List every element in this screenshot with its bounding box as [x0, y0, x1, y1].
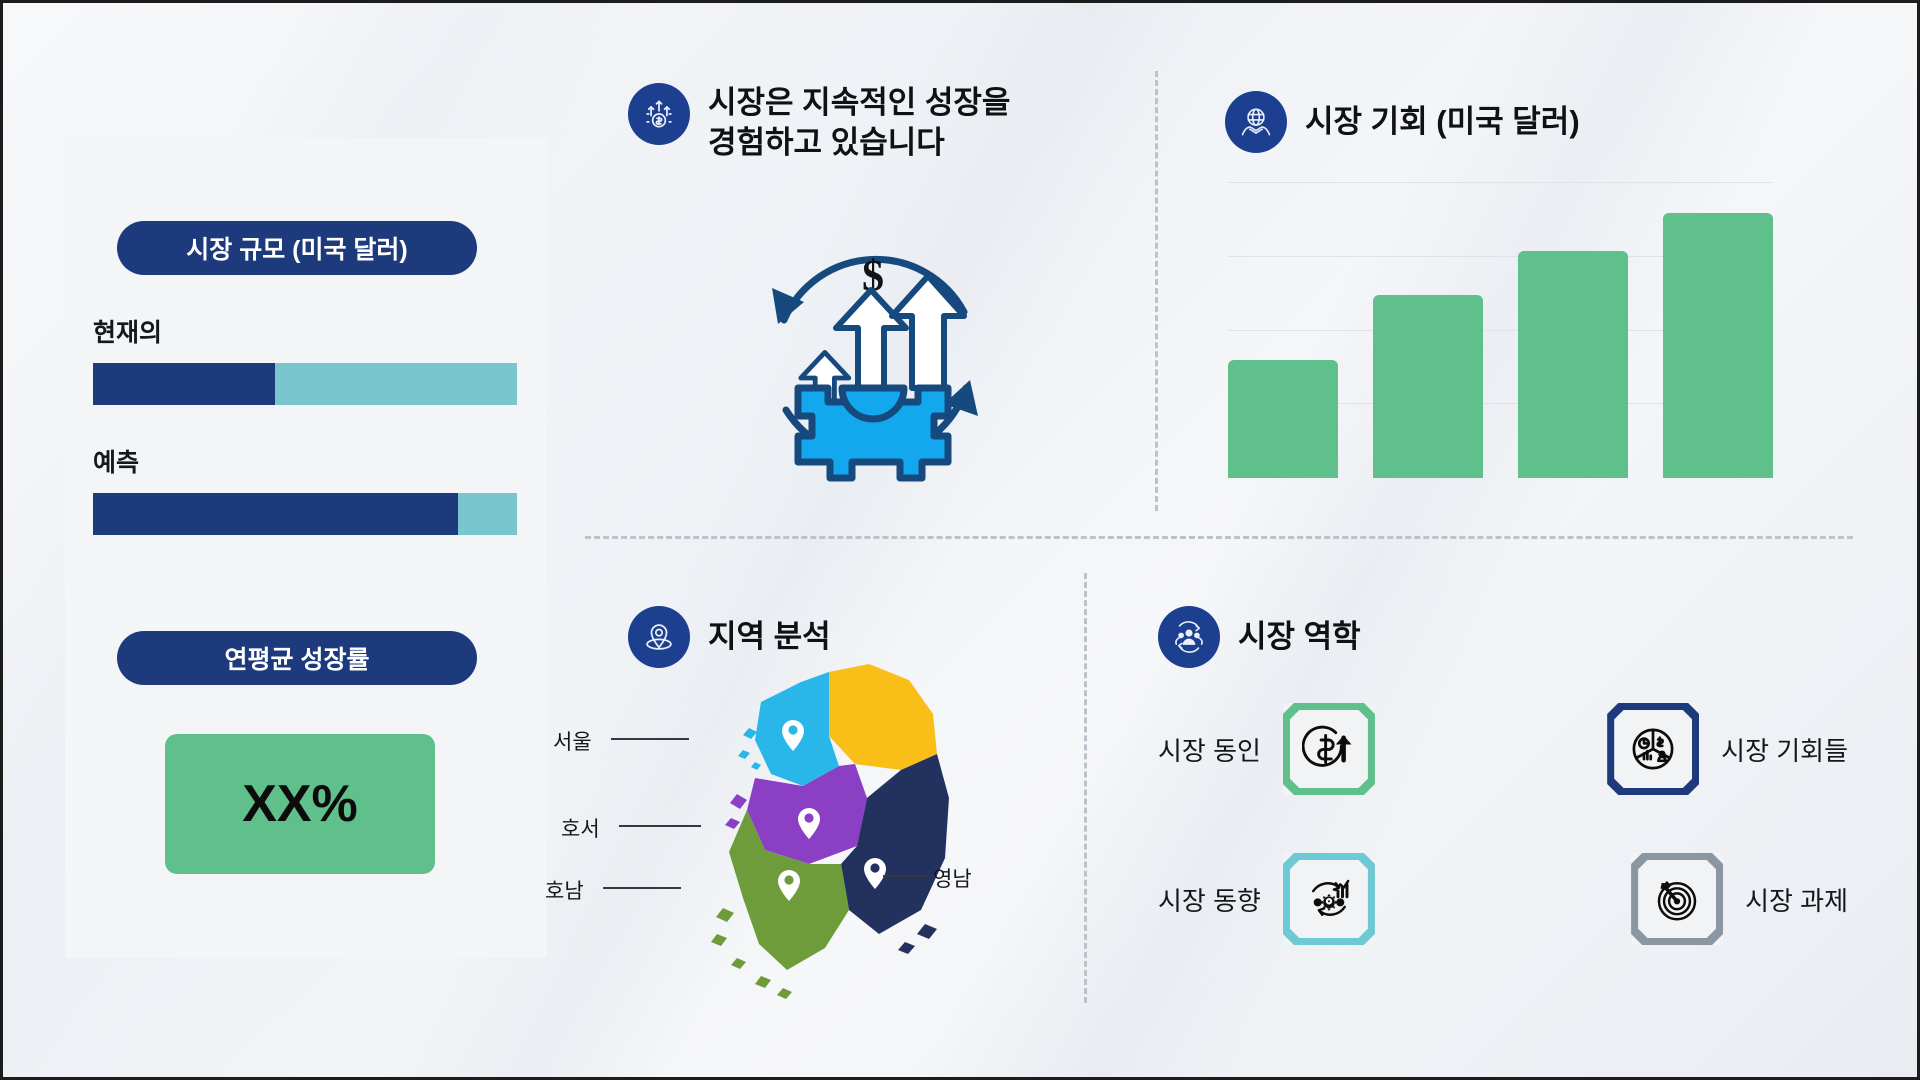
dollar-up-arrow-icon: [1283, 703, 1375, 795]
gears-trend-icon: [1283, 853, 1375, 945]
forecast-bar-track: [93, 493, 517, 535]
dynamics-item-market-trends[interactable]: 시장 동향: [1158, 853, 1375, 945]
cagr-pill: 연평균 성장률: [117, 631, 477, 685]
dynamics-item-market-drivers[interactable]: 시장 동인: [1158, 703, 1375, 795]
map-leader-hoseo: [619, 825, 701, 827]
market-dynamics-grid: 시장 동인 시장 기회들: [1158, 703, 1848, 1003]
forecast-bar-fill: [93, 493, 458, 535]
dynamics-item-market-opportunities[interactable]: 시장 기회들: [1607, 703, 1848, 795]
dartboard-dart-icon: [1631, 853, 1723, 945]
market-size-pill: 시장 규모 (미국 달러): [117, 221, 477, 275]
globe-in-hands-icon: [1225, 91, 1287, 153]
opportunity-section-header: 시장 기회 (미국 달러): [1225, 91, 1580, 153]
divider-vertical-top: [1155, 71, 1158, 511]
forecast-bar-label: 예측: [93, 443, 139, 479]
cagr-value: XX%: [242, 774, 358, 834]
map-label-hoseo: 호서: [561, 813, 600, 843]
chart-bar-2: [1373, 295, 1483, 478]
current-bar-fill: [93, 363, 275, 405]
dynamics-label-market-trends: 시장 동향: [1158, 881, 1261, 918]
current-bar-track: [93, 363, 517, 405]
regional-section-title: 지역 분석: [708, 617, 831, 657]
market-opportunity-bar-chart: [1228, 183, 1773, 478]
dynamics-section-title: 시장 역학: [1238, 617, 1361, 657]
chart-bar-1: [1228, 360, 1338, 478]
opportunity-section-title: 시장 기회 (미국 달러): [1305, 102, 1580, 142]
chart-bar-4: [1663, 213, 1773, 479]
gear-with-rising-arrows-illustration: $: [738, 228, 1008, 488]
dynamics-section-header: 시장 역학: [1158, 606, 1361, 668]
infographic-canvas: 시장 규모 (미국 달러) 현재의 예측 연평균 성장률 XX%: [0, 0, 1920, 1080]
map-label-seoul: 서울: [553, 726, 592, 756]
people-cycle-icon: [1158, 606, 1220, 668]
map-label-yeongnam: 영남: [933, 863, 972, 893]
dynamics-label-market-challenges: 시장 과제: [1745, 881, 1848, 918]
divider-vertical-bottom: [1084, 573, 1087, 1003]
divider-horizontal: [585, 536, 1853, 539]
map-leader-honam: [603, 887, 681, 889]
korea-regional-map: 서울 호서 호남 영남: [633, 658, 1053, 1003]
dynamics-item-market-challenges[interactable]: 시장 과제: [1631, 853, 1848, 945]
chart-bar-3: [1518, 251, 1628, 478]
map-leader-seoul: [611, 738, 689, 740]
current-bar-label: 현재의: [93, 313, 162, 349]
dynamics-label-market-drivers: 시장 동인: [1158, 731, 1261, 768]
map-leader-yeongnam: [883, 875, 929, 877]
money-growth-icon: [628, 83, 690, 145]
dynamics-label-market-opportunities: 시장 기회들: [1721, 731, 1848, 768]
growth-section-title: 시장은 지속적인 성장을 경험하고 있습니다: [708, 83, 1038, 162]
chart-bars-container: [1228, 183, 1773, 478]
cagr-value-box: XX%: [165, 734, 435, 874]
growth-section-header: 시장은 지속적인 성장을 경험하고 있습니다: [628, 83, 1048, 162]
market-size-panel: 시장 규모 (미국 달러) 현재의 예측 연평균 성장률 XX%: [65, 138, 547, 958]
pie-chart-icon: [1607, 703, 1699, 795]
map-label-honam: 호남: [545, 875, 584, 905]
